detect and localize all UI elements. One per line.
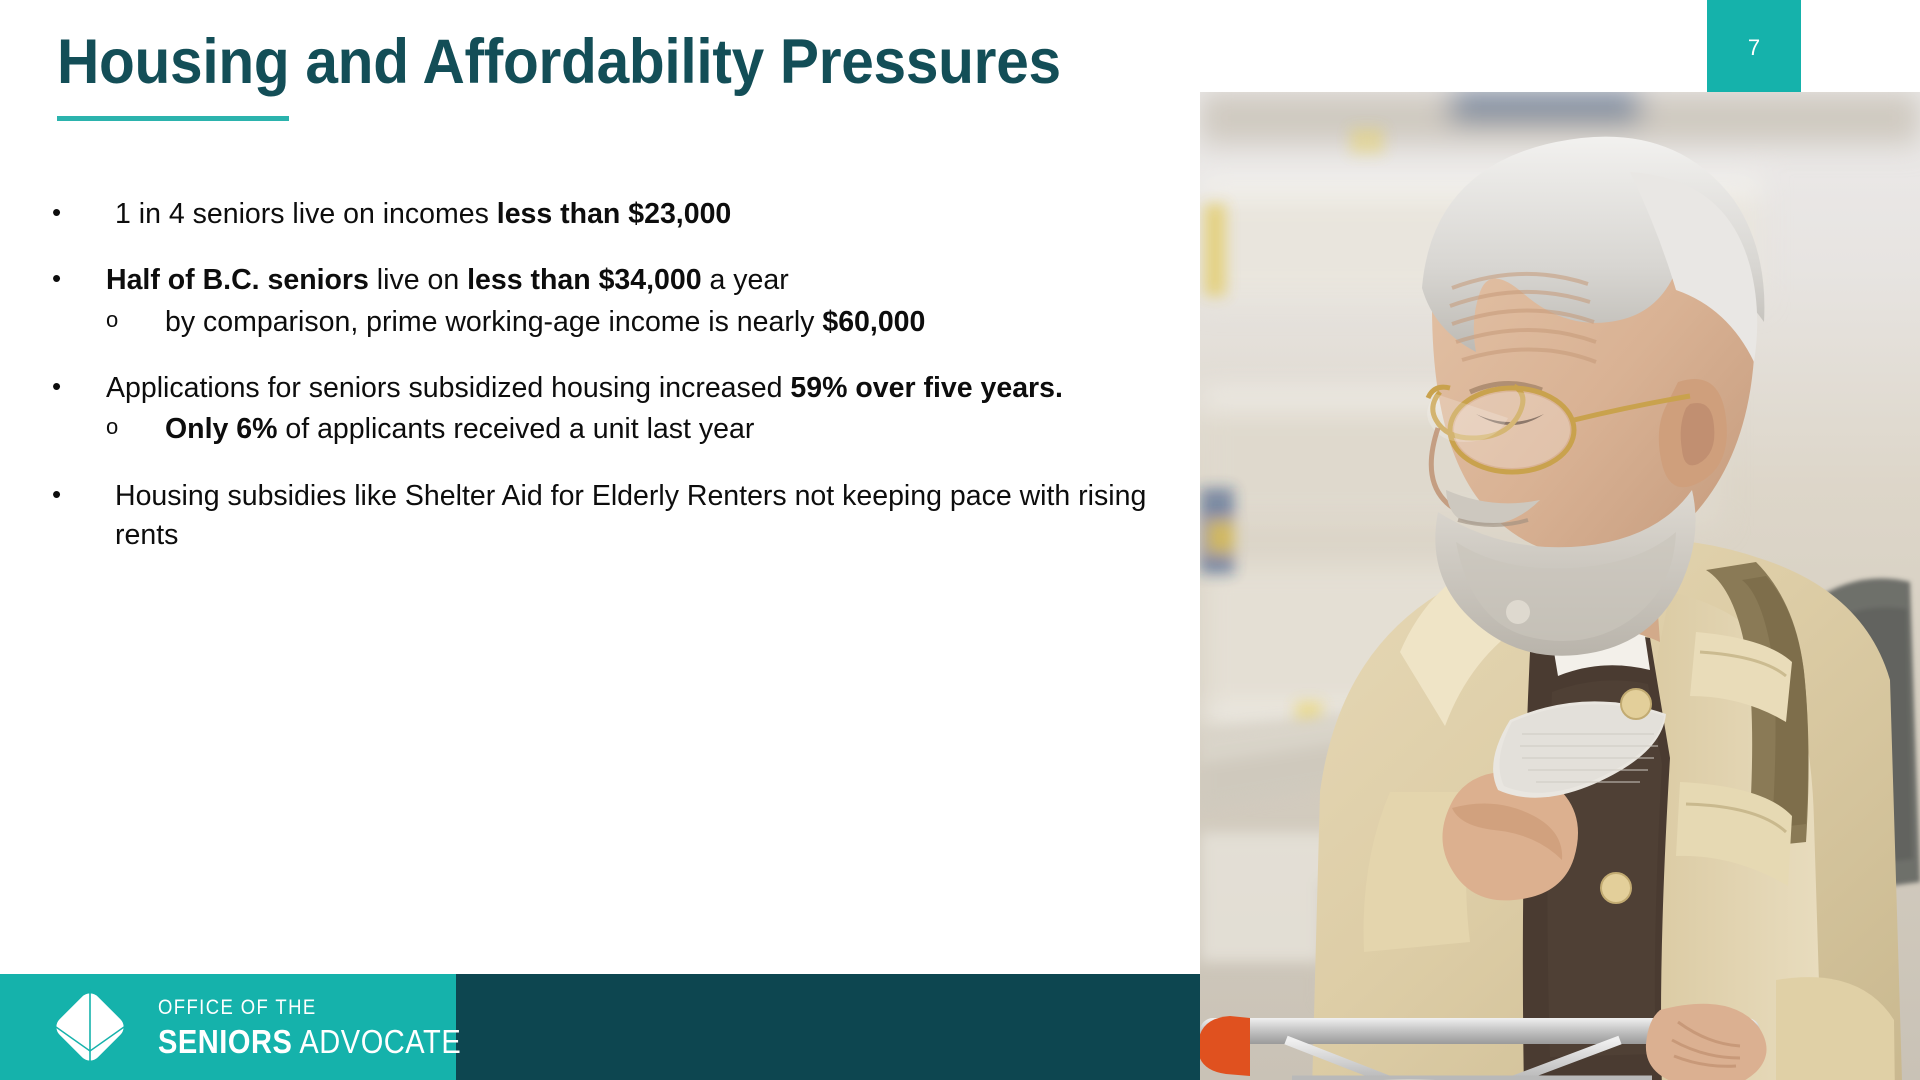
- sub-bullet-marker-icon: o: [106, 411, 136, 443]
- logo-word-advocate: ADVOCATE: [292, 1023, 461, 1060]
- slide-number-text: 7: [1748, 37, 1760, 59]
- bullet-marker-icon: •: [52, 261, 82, 297]
- bullet-list: •1 in 4 seniors live on incomes less tha…: [52, 195, 1162, 555]
- sub-bullet-item: oOnly 6% of applicants received a unit l…: [52, 410, 1162, 449]
- bullet-group: •Half of B.C. seniors live on less than …: [52, 261, 1162, 342]
- bullet-item: •Housing subsidies like Shelter Aid for …: [52, 477, 1162, 556]
- sub-bullet-text: Only 6% of applicants received a unit la…: [156, 410, 1162, 449]
- presentation-slide: 7 Housing and Affordability Pressures •1…: [0, 0, 1920, 1080]
- logo-wordmark: OFFICE OF THE SENIORS ADVOCATE: [158, 997, 503, 1058]
- bullet-group: •Applications for seniors subsidized hou…: [52, 369, 1162, 450]
- logo-line-office-of-the: OFFICE OF THE: [158, 997, 461, 1018]
- bullet-item: •1 in 4 seniors live on incomes less tha…: [52, 195, 1162, 234]
- sub-bullet-item: oby comparison, prime working-age income…: [52, 303, 1162, 342]
- bullet-item: •Applications for seniors subsidized hou…: [52, 369, 1162, 408]
- logo-word-seniors: SENIORS: [158, 1023, 292, 1060]
- bullet-item: •Half of B.C. seniors live on less than …: [52, 261, 1162, 300]
- bullet-marker-icon: •: [52, 477, 82, 513]
- footer-bar-teal: OFFICE OF THE SENIORS ADVOCATE: [0, 974, 456, 1080]
- sub-bullet-text: by comparison, prime working-age income …: [156, 303, 1162, 342]
- bullet-text: 1 in 4 seniors live on incomes less than…: [106, 195, 1162, 234]
- photo-illustration: [1200, 92, 1920, 1080]
- bullet-text: Housing subsidies like Shelter Aid for E…: [106, 477, 1162, 556]
- photo-senior-shopper: [1200, 92, 1920, 1080]
- seniors-advocate-logo-icon: [44, 981, 136, 1073]
- bullet-text: Applications for seniors subsidized hous…: [106, 369, 1162, 408]
- bullet-marker-icon: •: [52, 369, 82, 405]
- slide-number-badge: 7: [1707, 0, 1801, 92]
- bullet-marker-icon: •: [52, 195, 82, 231]
- diamond-logo-icon: [44, 981, 136, 1073]
- logo-line-seniors-advocate: SENIORS ADVOCATE: [158, 1025, 461, 1058]
- bullet-group: •Housing subsidies like Shelter Aid for …: [52, 477, 1162, 556]
- page-title: Housing and Affordability Pressures: [57, 28, 1099, 96]
- title-underline-rule: [57, 116, 289, 121]
- title-block: Housing and Affordability Pressures: [57, 28, 1177, 121]
- sub-bullet-marker-icon: o: [106, 304, 136, 336]
- bullet-text: Half of B.C. seniors live on less than $…: [106, 261, 1162, 300]
- bullet-group: •1 in 4 seniors live on incomes less tha…: [52, 195, 1162, 234]
